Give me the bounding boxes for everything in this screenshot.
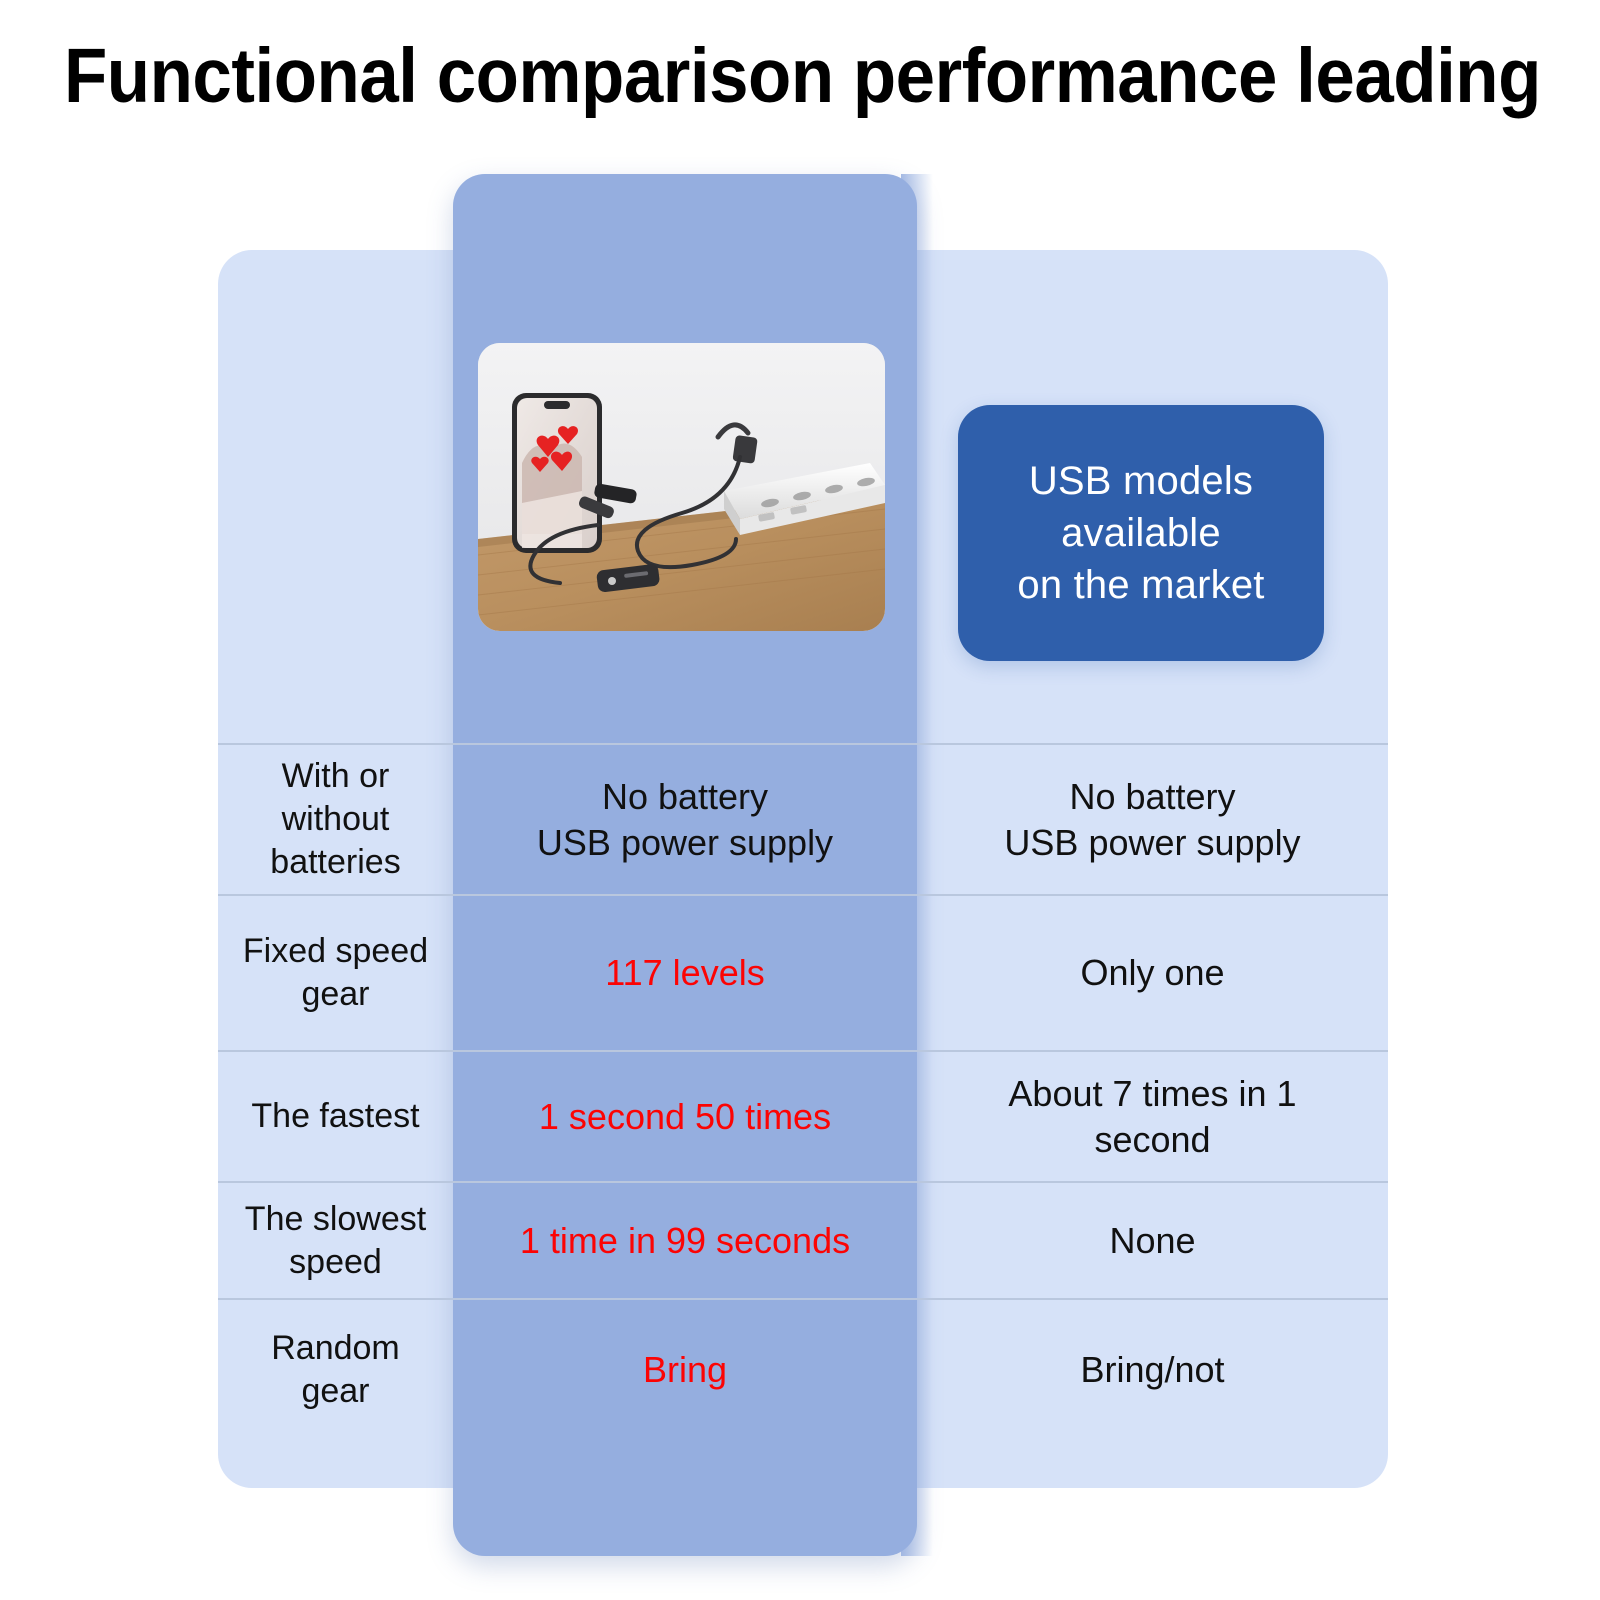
row-value-featured: No battery USB power supply xyxy=(453,745,917,894)
row-value-featured: 1 time in 99 seconds xyxy=(453,1183,917,1298)
row-label-text: The slowest speed xyxy=(245,1198,426,1284)
row-value-competitor-text: Bring/not xyxy=(1080,1347,1224,1393)
row-label: The fastest xyxy=(218,1052,453,1181)
table-row: Random gear Bring Bring/not xyxy=(218,1298,1388,1440)
row-value-featured: 117 levels xyxy=(453,896,917,1050)
row-label-text: Fixed speed gear xyxy=(243,930,428,1016)
row-value-featured: Bring xyxy=(453,1300,917,1440)
table-row: The fastest 1 second 50 times About 7 ti… xyxy=(218,1050,1388,1181)
row-value-competitor: None xyxy=(917,1183,1388,1298)
product-photo-illustration xyxy=(478,343,885,631)
row-label: Fixed speed gear xyxy=(218,896,453,1050)
row-value-featured-text: 117 levels xyxy=(605,950,764,996)
row-value-featured-text: 1 second 50 times xyxy=(539,1094,831,1140)
row-value-competitor-text: None xyxy=(1109,1218,1195,1264)
row-label-text: Random gear xyxy=(271,1327,400,1413)
row-value-competitor: About 7 times in 1 second xyxy=(917,1052,1388,1181)
row-value-competitor: Bring/not xyxy=(917,1300,1388,1440)
row-label: With or without batteries xyxy=(218,745,453,894)
row-value-featured-text: Bring xyxy=(643,1347,727,1393)
comparison-table: With or without batteries No battery USB… xyxy=(218,743,1388,1440)
row-value-featured-text: 1 time in 99 seconds xyxy=(520,1218,850,1264)
row-value-competitor: Only one xyxy=(917,896,1388,1050)
row-value-featured-text: No battery USB power supply xyxy=(537,774,833,866)
table-row: With or without batteries No battery USB… xyxy=(218,743,1388,894)
row-label-text: The fastest xyxy=(251,1095,419,1138)
row-label: Random gear xyxy=(218,1300,453,1440)
row-value-competitor-text: No battery USB power supply xyxy=(1004,774,1300,866)
competitor-badge: USB models available on the market xyxy=(958,405,1324,661)
comparison-stage: USB models available on the market With … xyxy=(0,0,1600,1600)
row-label: The slowest speed xyxy=(218,1183,453,1298)
competitor-badge-label: USB models available on the market xyxy=(1017,455,1264,611)
row-value-competitor-text: Only one xyxy=(1080,950,1224,996)
table-row: Fixed speed gear 117 levels Only one xyxy=(218,894,1388,1050)
table-row: The slowest speed 1 time in 99 seconds N… xyxy=(218,1181,1388,1298)
row-value-competitor: No battery USB power supply xyxy=(917,745,1388,894)
row-label-text: With or without batteries xyxy=(270,755,400,884)
row-value-featured: 1 second 50 times xyxy=(453,1052,917,1181)
row-value-competitor-text: About 7 times in 1 second xyxy=(1008,1071,1296,1163)
product-photo xyxy=(478,343,885,631)
